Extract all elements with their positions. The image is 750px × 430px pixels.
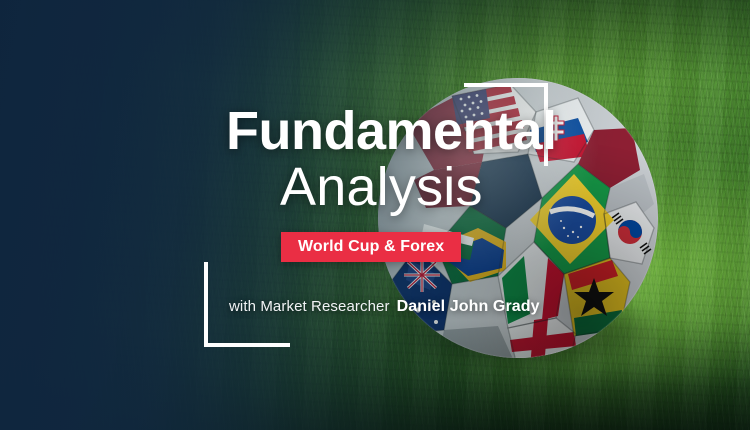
webinar-banner: Fundamental Analysis World Cup & Forex w…	[0, 0, 750, 430]
presenter-line: with Market Researcher Daniel John Grady	[229, 298, 540, 316]
presenter-role-label: with Market Researcher	[229, 298, 390, 315]
page-title-line-1: Fundamental	[226, 104, 557, 158]
topic-badge: World Cup & Forex	[281, 232, 461, 262]
banner-copy: Fundamental Analysis World Cup & Forex w…	[0, 0, 750, 430]
presenter-name: Daniel John Grady	[397, 298, 540, 316]
page-title-line-2: Analysis	[280, 160, 483, 214]
topic-badge-label: World Cup & Forex	[298, 238, 444, 256]
